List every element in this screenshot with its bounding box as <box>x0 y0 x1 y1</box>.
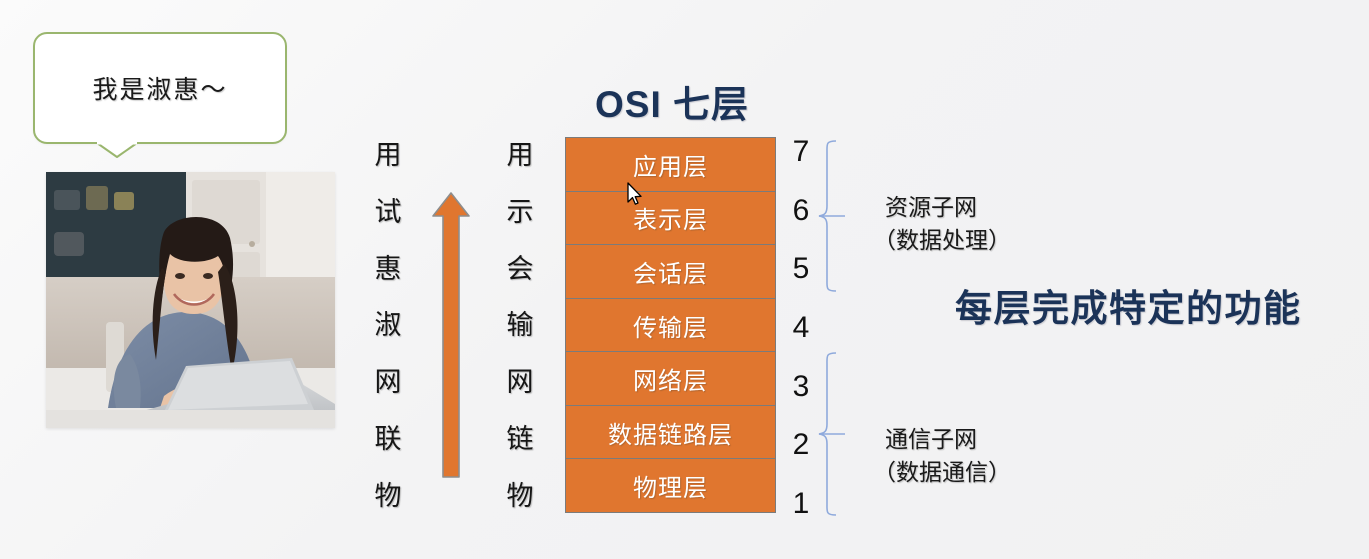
layer-box-network[interactable]: 网络层 <box>565 351 776 405</box>
mnemonic-right-char-0: 用 <box>507 142 534 169</box>
mnemonic-left-char-1: 试 <box>375 199 402 226</box>
headline-text: 每层完成特定的功能 <box>955 278 1302 332</box>
layer-number-5: 5 <box>793 254 810 284</box>
speech-bubble: 我是淑惠～ <box>33 32 287 144</box>
mnemonic-column-right: 用 示 会 输 网 链 物 <box>500 142 540 510</box>
annotation-communication-subnet-line2: （数据通信） <box>873 457 1011 490</box>
brace-upper-icon <box>818 140 846 292</box>
layer-box-application[interactable]: 应用层 <box>565 137 776 191</box>
layer-number-column: 7 6 5 4 3 2 1 <box>788 137 814 519</box>
mnemonic-right-char-4: 网 <box>507 369 534 396</box>
mnemonic-left-char-4: 网 <box>375 369 402 396</box>
layer-number-1: 1 <box>793 489 810 519</box>
up-arrow-icon <box>430 190 472 480</box>
page-title: OSI 七层 <box>566 74 778 128</box>
slide-canvas: 我是淑惠～ <box>0 0 1369 559</box>
annotation-communication-subnet: 通信子网 （数据通信） <box>885 424 1011 489</box>
mnemonic-right-char-1: 示 <box>507 199 534 226</box>
layer-box-session[interactable]: 会话层 <box>565 244 776 298</box>
layer-box-presentation[interactable]: 表示层 <box>565 191 776 245</box>
mnemonic-left-char-3: 淑 <box>375 312 402 339</box>
brace-lower-icon <box>818 352 846 516</box>
layer-number-7: 7 <box>793 137 810 167</box>
mnemonic-left-char-6: 物 <box>375 483 402 510</box>
photo-woman-laptop <box>46 172 335 428</box>
mnemonic-column-left: 用 试 惠 淑 网 联 物 <box>368 142 408 510</box>
annotation-communication-subnet-line1: 通信子网 <box>885 424 1011 457</box>
layer-number-3: 3 <box>793 372 810 402</box>
annotation-resource-subnet: 资源子网 （数据处理） <box>885 192 1011 257</box>
annotation-resource-subnet-line1: 资源子网 <box>885 192 1011 225</box>
mnemonic-right-char-2: 会 <box>507 256 534 283</box>
mnemonic-right-char-5: 链 <box>507 426 534 453</box>
speech-bubble-text: 我是淑惠～ <box>35 34 285 142</box>
mnemonic-left-char-2: 惠 <box>375 256 402 283</box>
mnemonic-right-char-6: 物 <box>507 483 534 510</box>
mnemonic-right-char-3: 输 <box>507 312 534 339</box>
speech-bubble-tail <box>97 142 157 160</box>
layer-number-2: 2 <box>793 430 810 460</box>
layer-box-physical[interactable]: 物理层 <box>565 458 776 513</box>
layer-number-6: 6 <box>793 196 810 226</box>
mnemonic-left-char-5: 联 <box>375 426 402 453</box>
annotation-resource-subnet-line2: （数据处理） <box>873 225 1011 258</box>
layer-number-4: 4 <box>793 313 810 343</box>
layer-box-datalink[interactable]: 数据链路层 <box>565 405 776 459</box>
layer-box-transport[interactable]: 传输层 <box>565 298 776 352</box>
mnemonic-left-char-0: 用 <box>375 142 402 169</box>
osi-layer-stack: 应用层 表示层 会话层 传输层 网络层 数据链路层 物理层 <box>565 137 776 513</box>
